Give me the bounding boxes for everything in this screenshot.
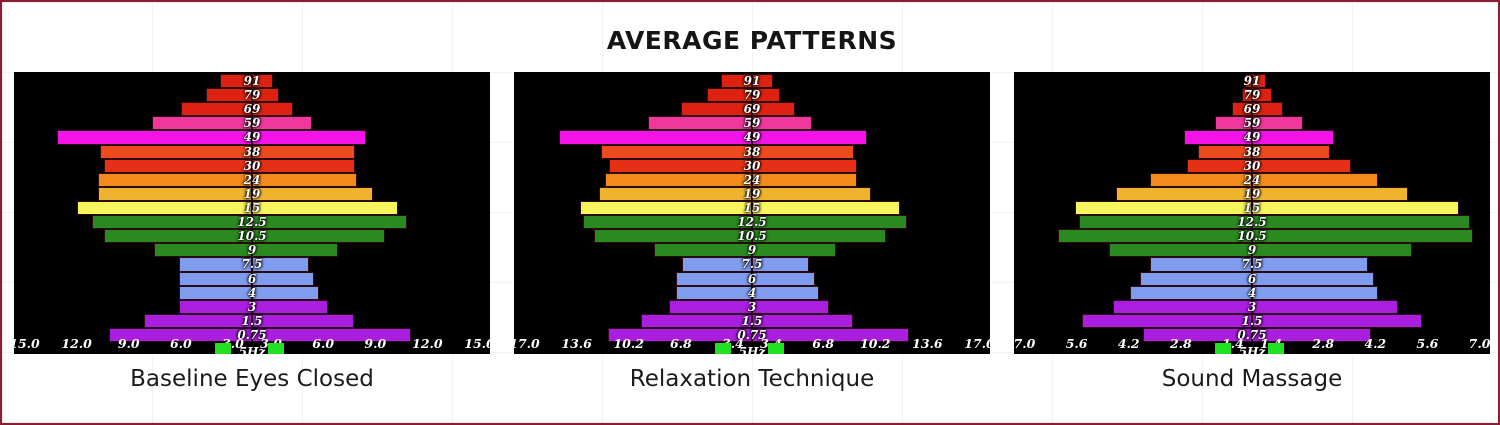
x-tick-label: 13.6: [912, 336, 942, 351]
panel-container: 9179695949383024191512.510.597.56431.50.…: [2, 72, 1500, 417]
bar-row: [514, 130, 990, 144]
bar-half-left: [1014, 243, 1252, 257]
chart-page: AVERAGE PATTERNS 9179695949383024191512.…: [0, 0, 1500, 425]
bar-row: [1014, 314, 1490, 328]
bar-right: [252, 215, 407, 229]
bar-row: [14, 173, 490, 187]
bar-row: [514, 159, 990, 173]
bar-left: [676, 286, 752, 300]
bar-half-left: [1014, 286, 1252, 300]
bar-half-left: [14, 272, 252, 286]
panel-caption: Sound Massage: [1014, 366, 1490, 392]
bar-half-left: [1014, 130, 1252, 144]
bar-right: [252, 159, 355, 173]
bar-half-right: [252, 145, 490, 159]
bar-half-right: [752, 102, 990, 116]
x-tick-label: 6.0: [170, 336, 192, 351]
bar-right: [252, 272, 314, 286]
bar-left: [179, 272, 252, 286]
bar-half-right: [252, 102, 490, 116]
bar-left: [1113, 300, 1252, 314]
bar-row: [1014, 257, 1490, 271]
bar-left: [152, 116, 252, 130]
bar-row: [514, 145, 990, 159]
bar-row: [1014, 130, 1490, 144]
bar-row: [1014, 215, 1490, 229]
bar-right: [752, 159, 857, 173]
bar-half-left: [514, 272, 752, 286]
marker-left: [215, 343, 231, 354]
bar-right: [752, 229, 886, 243]
x-tick-label: 4.2: [1364, 336, 1386, 351]
bar-left: [601, 145, 752, 159]
bar-left: [181, 102, 252, 116]
bar-left: [721, 74, 752, 88]
x-tick-label: 10.2: [613, 336, 643, 351]
bar-half-left: [1014, 229, 1252, 243]
bar-right: [252, 187, 373, 201]
bar-half-left: [514, 145, 752, 159]
bar-row: [1014, 102, 1490, 116]
panel-caption: Relaxation Technique: [514, 366, 990, 392]
bar-right: [1252, 173, 1378, 187]
bar-row: [14, 74, 490, 88]
bar-row: [1014, 243, 1490, 257]
bar-row: [514, 74, 990, 88]
bar-right: [252, 102, 293, 116]
bar-half-right: [1252, 88, 1490, 102]
panel-baseline-eyes-closed: 9179695949383024191512.510.597.56431.50.…: [14, 72, 490, 417]
bar-row: [14, 159, 490, 173]
x-tick-label: 7.0: [1014, 336, 1035, 351]
bar-left: [605, 173, 752, 187]
bar-left: [1187, 159, 1252, 173]
bar-left: [92, 215, 252, 229]
bar-right: [1252, 116, 1303, 130]
bar-half-left: [14, 243, 252, 257]
bar-half-right: [752, 229, 990, 243]
bar-right: [252, 173, 357, 187]
x-tick-label: 17.0: [514, 336, 540, 351]
bar-half-left: [514, 74, 752, 88]
x-tick-label: 17.0: [964, 336, 990, 351]
bar-half-left: [1014, 300, 1252, 314]
x-tick-label: 2.8: [1312, 336, 1334, 351]
bar-half-left: [14, 215, 252, 229]
bar-half-left: [514, 116, 752, 130]
bar-right: [752, 257, 809, 271]
x-tick-label: 2.8: [1170, 336, 1192, 351]
bar-half-left: [14, 102, 252, 116]
bar-right: [1252, 159, 1351, 173]
bar-left: [100, 145, 252, 159]
bar-left: [583, 215, 752, 229]
bar-left: [609, 159, 752, 173]
bar-half-right: [752, 201, 990, 215]
x-tick-label: 10.2: [860, 336, 890, 351]
bar-half-right: [252, 187, 490, 201]
bar-right: [252, 201, 398, 215]
bar-right: [1252, 286, 1378, 300]
bar-half-left: [1014, 145, 1252, 159]
bar-half-left: [1014, 102, 1252, 116]
bar-half-left: [14, 187, 252, 201]
x-tick-label: 12.0: [412, 336, 442, 351]
bar-half-right: [1252, 215, 1490, 229]
bar-half-left: [1014, 88, 1252, 102]
bar-half-right: [1252, 272, 1490, 286]
bar-left: [1075, 201, 1252, 215]
bar-half-left: [14, 300, 252, 314]
bar-left: [179, 300, 252, 314]
bar-row: [1014, 300, 1490, 314]
bar-half-left: [14, 145, 252, 159]
bar-right: [752, 173, 857, 187]
bar-right: [752, 272, 815, 286]
bar-half-left: [14, 130, 252, 144]
bar-half-left: [1014, 173, 1252, 187]
bar-half-right: [1252, 314, 1490, 328]
bar-left: [1140, 272, 1252, 286]
bar-half-left: [14, 173, 252, 187]
bar-right: [252, 130, 366, 144]
bar-half-left: [14, 286, 252, 300]
bar-half-right: [752, 243, 990, 257]
bar-left: [154, 243, 252, 257]
bar-left: [144, 314, 252, 328]
bar-half-left: [14, 229, 252, 243]
bar-right: [752, 74, 773, 88]
bar-half-left: [1014, 272, 1252, 286]
bar-right: [1252, 314, 1422, 328]
bar-row: [514, 88, 990, 102]
bar-left: [206, 88, 252, 102]
bar-right: [752, 130, 867, 144]
bar-right: [1252, 102, 1283, 116]
bar-half-right: [752, 159, 990, 173]
bar-half-right: [1252, 229, 1490, 243]
bar-left: [1109, 243, 1252, 257]
marker-right: [768, 343, 784, 354]
bar-half-right: [252, 215, 490, 229]
bar-half-left: [14, 314, 252, 328]
bar-half-left: [514, 257, 752, 271]
bar-row: [1014, 229, 1490, 243]
bar-half-right: [1252, 159, 1490, 173]
bar-row: [14, 257, 490, 271]
bar-row: [1014, 201, 1490, 215]
bar-half-left: [1014, 74, 1252, 88]
bar-half-right: [1252, 130, 1490, 144]
bar-left: [1184, 130, 1252, 144]
bar-right: [1252, 257, 1368, 271]
plot-area: 9179695949383024191512.510.597.56431.50.…: [1014, 72, 1490, 354]
bar-half-right: [252, 201, 490, 215]
bar-half-left: [514, 102, 752, 116]
bar-left: [707, 88, 752, 102]
bar-right: [1252, 272, 1374, 286]
bar-left: [594, 229, 752, 243]
bar-half-right: [1252, 74, 1490, 88]
bar-half-right: [1252, 145, 1490, 159]
bar-left: [57, 130, 252, 144]
bar-half-right: [1252, 173, 1490, 187]
bar-half-right: [1252, 102, 1490, 116]
x-tick-label: 7.0: [1469, 336, 1490, 351]
bar-right: [252, 88, 279, 102]
x-tick-label: 5.6: [1417, 336, 1439, 351]
bar-right: [1252, 130, 1334, 144]
bar-row: [1014, 159, 1490, 173]
bar-half-right: [752, 314, 990, 328]
bar-half-right: [752, 257, 990, 271]
bar-half-right: [752, 215, 990, 229]
bar-half-left: [514, 229, 752, 243]
bar-row: [14, 314, 490, 328]
bar-half-left: [14, 159, 252, 173]
bar-half-left: [14, 88, 252, 102]
bar-left: [77, 201, 252, 215]
bar-half-left: [514, 201, 752, 215]
bar-half-left: [1014, 116, 1252, 130]
bar-half-right: [752, 116, 990, 130]
bar-left: [681, 102, 752, 116]
bar-half-right: [752, 130, 990, 144]
bar-half-right: [252, 314, 490, 328]
bar-row: [514, 102, 990, 116]
bar-left: [559, 130, 752, 144]
bar-half-right: [252, 74, 490, 88]
bar-right: [752, 243, 836, 257]
bar-row: [1014, 145, 1490, 159]
bar-row: [14, 130, 490, 144]
x-tick-label: 13.6: [561, 336, 591, 351]
bar-left: [648, 116, 752, 130]
marker-left: [1215, 343, 1231, 354]
bar-half-right: [252, 229, 490, 243]
bar-half-right: [1252, 116, 1490, 130]
bar-half-left: [1014, 159, 1252, 173]
bar-half-left: [514, 300, 752, 314]
bar-row: [1014, 286, 1490, 300]
bar-row: [14, 116, 490, 130]
bar-half-right: [1252, 300, 1490, 314]
bar-row: [1014, 116, 1490, 130]
bar-row: [1014, 173, 1490, 187]
plot-area: 9179695949383024191512.510.597.56431.50.…: [514, 72, 990, 354]
center-bottom-label: 5Hz: [739, 345, 766, 354]
bar-half-right: [752, 272, 990, 286]
bar-half-left: [514, 88, 752, 102]
bar-left: [98, 173, 252, 187]
bar-left: [1150, 173, 1252, 187]
bar-row: [14, 201, 490, 215]
bar-row: [14, 229, 490, 243]
bar-left: [1242, 88, 1252, 102]
marker-right: [268, 343, 284, 354]
bar-right: [1252, 74, 1266, 88]
bar-right: [1252, 187, 1408, 201]
bar-half-right: [752, 88, 990, 102]
bar-row: [514, 300, 990, 314]
bar-half-right: [252, 130, 490, 144]
bar-right: [752, 286, 819, 300]
x-tick-label: 12.0: [61, 336, 91, 351]
page-title: AVERAGE PATTERNS: [2, 26, 1500, 55]
bar-row: [514, 173, 990, 187]
bar-right: [1252, 215, 1470, 229]
bar-right: [752, 102, 795, 116]
bar-right: [252, 257, 309, 271]
marker-left: [715, 343, 731, 354]
bar-right: [252, 229, 385, 243]
bar-row: [14, 187, 490, 201]
bar-half-left: [1014, 257, 1252, 271]
bar-left: [104, 159, 252, 173]
bar-right: [252, 243, 338, 257]
bar-left: [599, 187, 752, 201]
bar-rows: [514, 74, 990, 342]
x-tick-label: 15.0: [14, 336, 40, 351]
bar-row: [14, 272, 490, 286]
bar-half-right: [1252, 286, 1490, 300]
bar-right: [752, 215, 907, 229]
bar-left: [682, 257, 752, 271]
bar-right: [252, 145, 355, 159]
bar-half-right: [1252, 201, 1490, 215]
bar-row: [1014, 88, 1490, 102]
bar-half-left: [1014, 314, 1252, 328]
bar-half-left: [514, 130, 752, 144]
bar-left: [1215, 116, 1252, 130]
bar-half-left: [14, 201, 252, 215]
bar-row: [514, 286, 990, 300]
bar-row: [514, 215, 990, 229]
bar-left: [1082, 314, 1252, 328]
bar-left: [1232, 102, 1252, 116]
bar-left: [179, 286, 252, 300]
bar-right: [252, 314, 354, 328]
bar-row: [514, 314, 990, 328]
bar-half-left: [1014, 215, 1252, 229]
bar-left: [580, 201, 752, 215]
bar-rows: [1014, 74, 1490, 342]
bar-row: [514, 257, 990, 271]
bar-right: [752, 201, 900, 215]
bar-half-right: [752, 145, 990, 159]
bar-left: [1116, 187, 1252, 201]
x-tick-label: 6.8: [670, 336, 692, 351]
bar-left: [641, 314, 752, 328]
bar-half-left: [1014, 187, 1252, 201]
bar-half-right: [752, 286, 990, 300]
bar-left: [1245, 74, 1252, 88]
bar-left: [669, 300, 752, 314]
bar-half-left: [514, 243, 752, 257]
bar-row: [14, 286, 490, 300]
center-bottom-label: 5Hz: [1239, 345, 1266, 354]
bar-right: [252, 286, 319, 300]
bar-row: [14, 243, 490, 257]
bar-row: [14, 88, 490, 102]
bar-half-right: [252, 159, 490, 173]
bar-left: [654, 243, 752, 257]
bar-row: [514, 116, 990, 130]
bar-row: [14, 102, 490, 116]
bar-right: [752, 116, 812, 130]
bar-right: [752, 88, 780, 102]
bar-half-right: [752, 173, 990, 187]
bar-row: [14, 300, 490, 314]
bar-row: [514, 187, 990, 201]
bar-half-right: [752, 74, 990, 88]
bar-half-right: [252, 300, 490, 314]
bar-right: [752, 145, 854, 159]
bar-half-left: [1014, 201, 1252, 215]
bar-half-left: [14, 257, 252, 271]
x-tick-label: 4.2: [1118, 336, 1140, 351]
bar-right: [1252, 243, 1412, 257]
bar-row: [1014, 187, 1490, 201]
bar-left: [1079, 215, 1252, 229]
bar-row: [514, 229, 990, 243]
bar-half-left: [514, 314, 752, 328]
bar-half-right: [252, 116, 490, 130]
bar-right: [252, 74, 273, 88]
panel-relaxation-technique: 9179695949383024191512.510.597.56431.50.…: [514, 72, 990, 417]
x-tick-label: 9.0: [118, 336, 140, 351]
bar-right: [752, 300, 829, 314]
bar-right: [252, 300, 328, 314]
x-tick-label: 9.0: [364, 336, 386, 351]
bar-row: [1014, 272, 1490, 286]
bar-half-right: [252, 272, 490, 286]
bar-left: [104, 229, 252, 243]
bar-right: [1252, 229, 1473, 243]
bar-row: [14, 215, 490, 229]
bar-left: [1130, 286, 1252, 300]
bar-left: [220, 74, 252, 88]
center-bottom-label: 5Hz: [239, 345, 266, 354]
bar-half-right: [252, 173, 490, 187]
bar-left: [98, 187, 252, 201]
x-tick-label: 15.0: [464, 336, 490, 351]
bar-half-left: [514, 215, 752, 229]
plot-area: 9179695949383024191512.510.597.56431.50.…: [14, 72, 490, 354]
x-tick-label: 6.8: [812, 336, 834, 351]
bar-left: [676, 272, 752, 286]
bar-right: [1252, 201, 1459, 215]
bar-row: [1014, 74, 1490, 88]
bar-half-left: [14, 74, 252, 88]
bar-right: [752, 314, 853, 328]
bar-left: [1198, 145, 1252, 159]
panel-sound-massage: 9179695949383024191512.510.597.56431.50.…: [1014, 72, 1490, 417]
bar-half-right: [252, 286, 490, 300]
bar-left: [179, 257, 252, 271]
bar-half-right: [1252, 243, 1490, 257]
bar-half-right: [752, 187, 990, 201]
bar-right: [1252, 88, 1272, 102]
bar-half-right: [252, 257, 490, 271]
bar-row: [514, 272, 990, 286]
bar-half-right: [752, 300, 990, 314]
bar-left: [1058, 229, 1252, 243]
bar-right: [252, 116, 312, 130]
bar-row: [14, 145, 490, 159]
bar-left: [1150, 257, 1252, 271]
bar-row: [514, 243, 990, 257]
